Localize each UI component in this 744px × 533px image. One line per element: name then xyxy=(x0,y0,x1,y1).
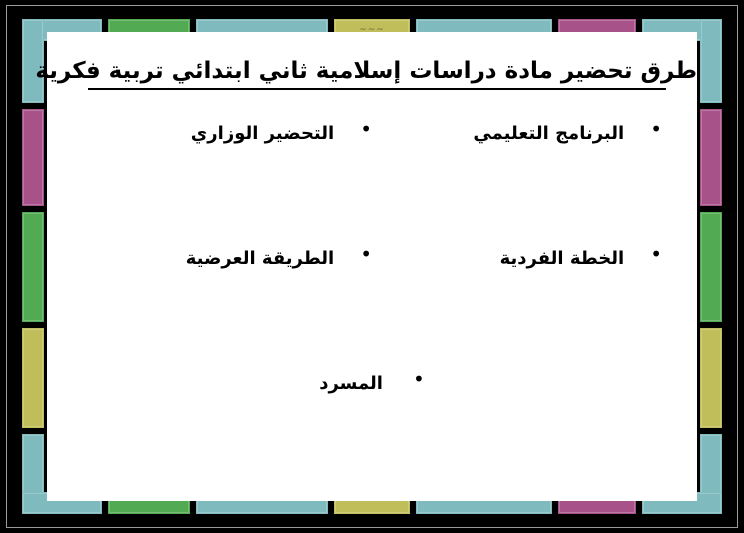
border-segment-left-pink xyxy=(22,109,44,206)
list-item-label: البرنامج التعليمي xyxy=(473,123,624,144)
border-segment-right-olive xyxy=(700,328,722,428)
bullet-list: • البرنامج التعليمي • التحضير الوزاري • … xyxy=(47,122,697,497)
bullet-dot-icon: • xyxy=(360,244,372,264)
list-item[interactable]: • البرنامج التعليمي xyxy=(372,122,662,144)
bullet-row: • البرنامج التعليمي • التحضير الوزاري xyxy=(47,122,697,247)
border-segment-left-green xyxy=(22,212,44,322)
bullet-row: • الخطة الفردية • الطريقة العرضية xyxy=(47,247,697,372)
bullet-dot-icon: • xyxy=(650,119,662,139)
list-item[interactable]: • الطريقة العرضية xyxy=(82,247,372,269)
border-segment-right-teal-1 xyxy=(700,19,722,103)
page-title: طرق تحضير مادة دراسات إسلامية ثاني ابتدا… xyxy=(47,58,697,84)
list-item-label: المسرد xyxy=(319,373,383,394)
list-item-label: الطريقة العرضية xyxy=(186,248,335,269)
border-segment-right-pink xyxy=(700,109,722,206)
bullet-dot-icon: • xyxy=(413,369,425,389)
list-item[interactable]: • الخطة الفردية xyxy=(372,247,662,269)
title-underline xyxy=(88,88,666,90)
content-panel: طرق تحضير مادة دراسات إسلامية ثاني ابتدا… xyxy=(47,32,697,501)
border-segment-left-olive xyxy=(22,328,44,428)
bullet-dot-icon: • xyxy=(650,244,662,264)
list-item[interactable]: • التحضير الوزاري xyxy=(82,122,372,144)
list-item[interactable]: • المسرد xyxy=(319,372,425,394)
list-item-label: الخطة الفردية xyxy=(500,248,625,269)
border-segment-right-green xyxy=(700,212,722,322)
bullet-row: • المسرد xyxy=(47,372,697,497)
list-item-label: التحضير الوزاري xyxy=(191,123,334,144)
content-panel-inner: طرق تحضير مادة دراسات إسلامية ثاني ابتدا… xyxy=(47,32,697,501)
slide-page: ~~~ طرق تحضير مادة دراسات إسلامية ثاني ا… xyxy=(0,0,744,533)
bullet-dot-icon: • xyxy=(360,119,372,139)
